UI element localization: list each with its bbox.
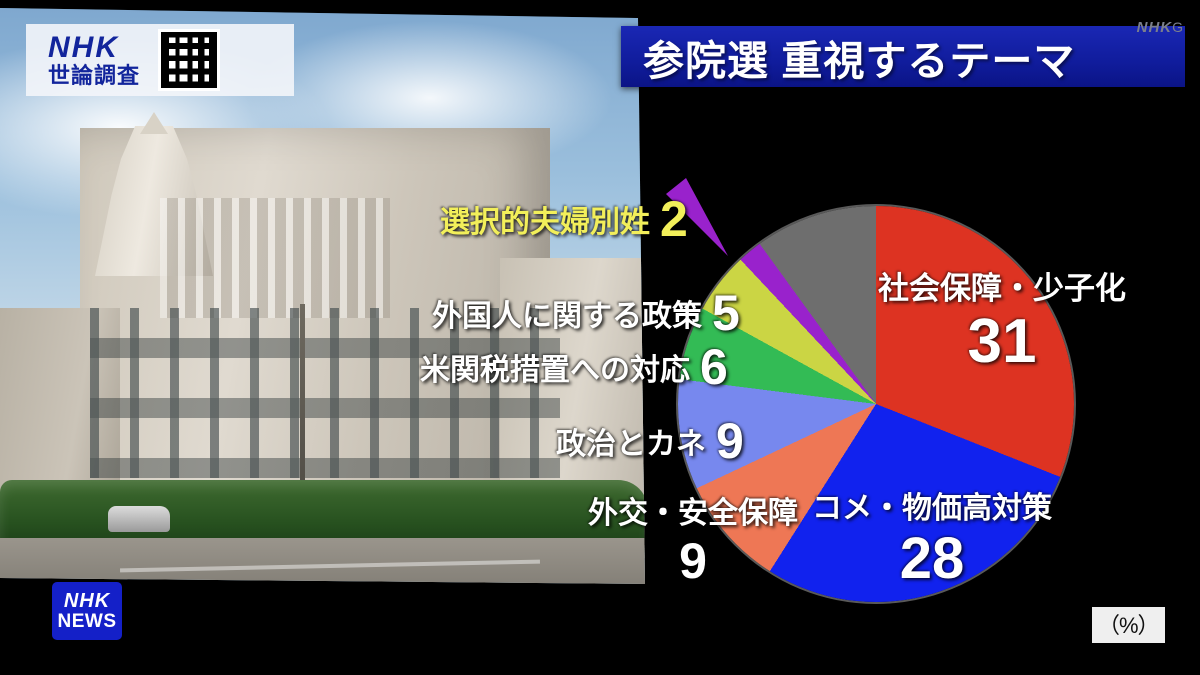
page-title: 参院選 重視するテーマ (643, 27, 1075, 87)
callout-us-tariff-response: 米関税措置への対応 6 (420, 338, 728, 396)
callout-selective-surname-value: 2 (660, 190, 688, 248)
parked-car (108, 506, 170, 532)
callout-diplomacy-security: 外交・安全保障 9 (588, 488, 798, 590)
slice-value-rice-prices: 28 (812, 527, 1052, 591)
nhk-poll-banner: NHK 世論調査 (26, 24, 294, 96)
news-badge-label: NEWS (58, 612, 117, 631)
qr-code-icon[interactable] (158, 29, 220, 91)
callout-politics-and-money-label: 政治とカネ (556, 419, 706, 463)
slice-value-social-security: 31 (878, 308, 1126, 376)
channel-watermark: NHKG (1137, 19, 1184, 36)
callout-foreigner-policy: 外国人に関する政策 5 (432, 284, 740, 342)
nhk-logo: NHK (48, 32, 140, 64)
slice-label-rice-prices: コメ・物価高対策 28 (812, 492, 1052, 591)
callout-politics-and-money-value: 9 (716, 412, 744, 470)
unit-percent-label: （%） (1092, 607, 1165, 643)
callout-foreigner-policy-value: 5 (712, 284, 740, 342)
roadway (0, 538, 648, 586)
news-badge-logo: NHK (64, 591, 110, 611)
callout-us-tariff-response-label: 米関税措置への対応 (420, 345, 690, 389)
broadcast-screen: NHK 世論調査 NHK NEWS 参院選 重視するテーマ NHKG 社会保障・… (0, 0, 1200, 675)
callout-selective-surname-label: 選択的夫婦別姓 (440, 197, 650, 241)
slice-label-social-security: 社会保障・少子化 31 (878, 272, 1126, 376)
nhk-news-badge: NHK NEWS (52, 582, 122, 640)
slice-label-social-security-text: 社会保障・少子化 (878, 271, 1126, 306)
title-bar: 参院選 重視するテーマ (621, 26, 1185, 87)
callout-foreigner-policy-label: 外国人に関する政策 (432, 291, 702, 335)
callout-selective-surname: 選択的夫婦別姓 2 (440, 190, 688, 248)
callout-diplomacy-security-value: 9 (679, 532, 707, 590)
callout-politics-and-money: 政治とカネ 9 (556, 412, 744, 470)
qr-code-pattern (161, 32, 217, 88)
poll-label: 世論調査 (48, 64, 140, 87)
channel-logo-text: NHK (1137, 19, 1173, 36)
slice-label-rice-prices-text: コメ・物価高対策 (812, 492, 1052, 525)
callout-us-tariff-response-value: 6 (700, 338, 728, 396)
poll-banner-text: NHK 世論調査 (48, 32, 140, 87)
channel-suffix: G (1172, 19, 1184, 35)
building-columns (160, 198, 390, 318)
callout-diplomacy-security-label: 外交・安全保障 (588, 488, 798, 532)
